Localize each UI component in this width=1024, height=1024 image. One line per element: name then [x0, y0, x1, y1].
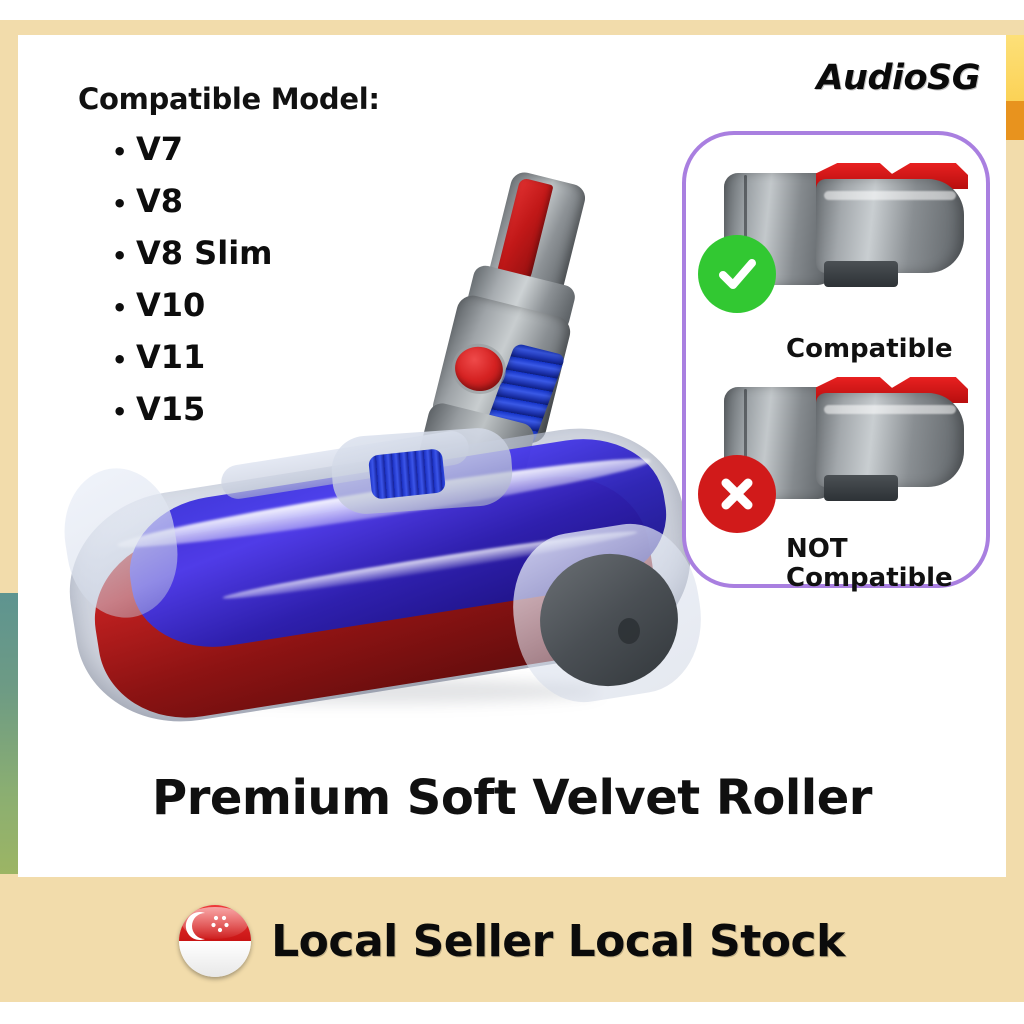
- accent-strip-left: [0, 593, 18, 874]
- page-title: Premium Soft Velvet Roller: [0, 770, 1024, 826]
- cross-icon: [698, 455, 776, 533]
- product-listing-image: AudioSG Compatible Model: • V7 • V8 • V8…: [0, 0, 1024, 1024]
- not-compatible-label-line1: NOT: [786, 535, 936, 564]
- not-compatible-label: NOT Compatible: [786, 535, 936, 593]
- compatible-label: Compatible: [786, 335, 953, 364]
- not-compatible-label-line2: Compatible: [786, 564, 936, 593]
- brand-logo: AudioSG: [816, 58, 980, 98]
- local-seller-banner: Local Seller Local Stock: [0, 880, 1024, 1002]
- singapore-flag-icon: [179, 905, 251, 977]
- compatible-example: Compatible: [696, 149, 986, 359]
- attachment-highlight: [824, 405, 956, 414]
- not-compatible-example: NOT Compatible: [696, 363, 986, 577]
- check-icon: [698, 235, 776, 313]
- accent-strip-right-bottom: [1006, 101, 1024, 140]
- fit-comparison-panel: Compatible NOT Compatible: [682, 131, 990, 588]
- flag-gloss: [182, 907, 248, 939]
- attachment-latch: [824, 261, 898, 287]
- compatible-model-heading: Compatible Model:: [78, 82, 380, 116]
- accent-strip-right-top: [1006, 35, 1024, 101]
- product-photo: [60, 150, 720, 750]
- banner-text: Local Seller Local Stock: [271, 916, 845, 967]
- head-endcap-vent: [618, 618, 640, 644]
- attachment-highlight: [824, 191, 956, 200]
- cleaner-head: [70, 450, 710, 720]
- attachment-latch: [824, 475, 898, 501]
- head-socket-bellows: [368, 448, 446, 499]
